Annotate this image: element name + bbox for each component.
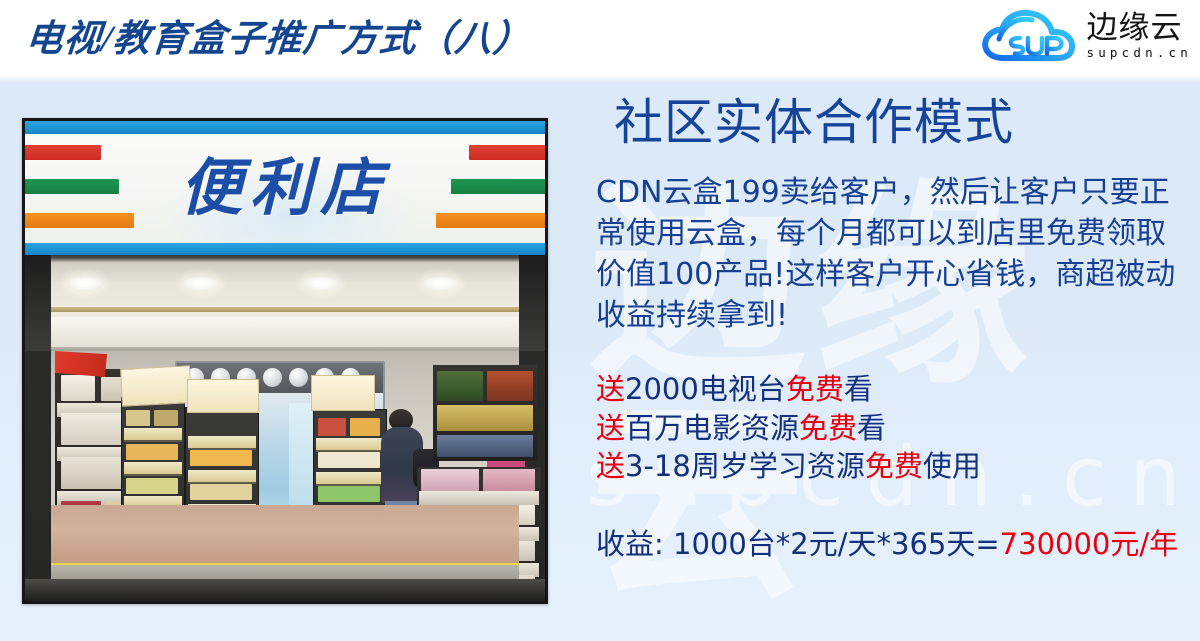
- revenue-formula: 收益: 1000台*2元/天*365天=730000元/年: [596, 521, 1188, 563]
- shelf-level: [419, 491, 539, 505]
- ceiling-light: [67, 276, 103, 291]
- ceiling-light: [303, 276, 339, 291]
- shelf-level: [316, 438, 384, 452]
- shelf-level: [316, 472, 384, 486]
- shelf-goods: [318, 452, 380, 468]
- shelf-poster: [311, 375, 375, 411]
- bullet-middle: 百万电影资源: [625, 411, 799, 445]
- shelf-level: [124, 462, 182, 476]
- brand-domain: supcdn.cn: [1086, 46, 1192, 60]
- bullet-lead: 送: [596, 372, 625, 406]
- shelf-goods: [154, 410, 178, 426]
- list-item: 送3-18周岁学习资源免费使用: [596, 447, 1188, 485]
- benefits-list: 送2000电视台免费看 送百万电影资源免费看 送3-18周岁学习资源免费使用: [596, 370, 1188, 485]
- ceiling-light: [423, 276, 459, 291]
- shelf-goods: [318, 486, 380, 502]
- shelf-goods: [190, 484, 252, 500]
- bullet-highlight: 免费: [799, 411, 857, 445]
- brand-logo: 边缘云 supcdn.cn: [980, 6, 1192, 68]
- ceiling-light: [183, 276, 219, 291]
- store-interior: [25, 351, 545, 601]
- fridge-disc: [289, 368, 308, 387]
- slide-header: 电视/教育盒子推广方式（八）: [0, 0, 1200, 76]
- description-paragraph: CDN云盒199卖给客户，然后让客户只要正常使用云盒，每个月都可以到店里免费领取…: [596, 172, 1176, 336]
- shelf-goods: [437, 435, 533, 457]
- shelf-poster: [120, 365, 192, 407]
- ceiling-rail: [51, 307, 519, 312]
- shelf-goods: [190, 450, 252, 466]
- bullet-middle: 3-18周岁学习资源: [625, 449, 865, 483]
- bullet-highlight: 免费: [786, 372, 844, 406]
- shelf-goods: [350, 418, 380, 436]
- shelf-goods: [421, 469, 479, 491]
- shelf-goods: [487, 371, 533, 401]
- shelf-level: [188, 436, 256, 450]
- bullet-lead: 送: [596, 411, 625, 445]
- sign-bottom-bar: [25, 243, 545, 255]
- bullet-tail: 看: [857, 411, 886, 445]
- shelf-goods: [437, 371, 483, 401]
- shelf-goods: [126, 478, 178, 494]
- ceiling-panel: [51, 317, 519, 347]
- shelf-goods: [61, 375, 95, 401]
- shelf-level: [124, 428, 182, 442]
- storefront-pillar-left: [25, 255, 51, 351]
- store-ceiling: [25, 255, 545, 351]
- content-panel: 社区实体合作模式 CDN云盒199卖给客户，然后让客户只要正常使用云盒，每个月都…: [588, 96, 1188, 563]
- shelf-goods: [437, 405, 533, 431]
- sign-top-bar: [25, 121, 545, 134]
- storefront-pillar-right: [519, 255, 545, 351]
- shelf-goods: [126, 444, 178, 460]
- shelf-goods: [318, 418, 346, 436]
- bullet-highlight: 免费: [865, 449, 923, 483]
- brand-name-cn: 边缘云: [1086, 12, 1192, 45]
- list-item: 送百万电影资源免费看: [596, 409, 1188, 447]
- shelf-level: [188, 470, 256, 484]
- right-wall-rack: [433, 365, 537, 461]
- entrance-threshold: [25, 579, 545, 601]
- revenue-expression: 收益: 1000台*2元/天*365天=: [596, 527, 1000, 561]
- store-sign-text: 便利店: [25, 137, 545, 227]
- bullet-tail: 使用: [923, 449, 981, 483]
- store-flag: [55, 351, 107, 377]
- brand-logo-text: 边缘云 supcdn.cn: [1086, 12, 1192, 62]
- cloud-logo-icon: [980, 8, 1080, 66]
- revenue-result: 730000元/年: [1000, 527, 1178, 561]
- list-item: 送2000电视台免费看: [596, 370, 1188, 408]
- shelf-goods: [483, 469, 535, 491]
- store-photo: 便利店: [22, 118, 548, 604]
- store-floor: [51, 505, 519, 567]
- slide-canvas: 边缘云 supcdn.cn 电视/教育盒子推广方式（八）: [0, 0, 1200, 641]
- page-title: 电视/教育盒子推广方式（八）: [24, 8, 534, 62]
- bullet-middle: 2000电视台: [625, 372, 786, 406]
- store-signboard: 便利店: [25, 121, 545, 255]
- fridge-disc: [263, 368, 282, 387]
- shelf-goods: [126, 410, 150, 426]
- bullet-tail: 看: [844, 372, 873, 406]
- bullet-lead: 送: [596, 449, 625, 483]
- section-headline: 社区实体合作模式: [614, 96, 1188, 150]
- shelf-poster: [187, 379, 259, 413]
